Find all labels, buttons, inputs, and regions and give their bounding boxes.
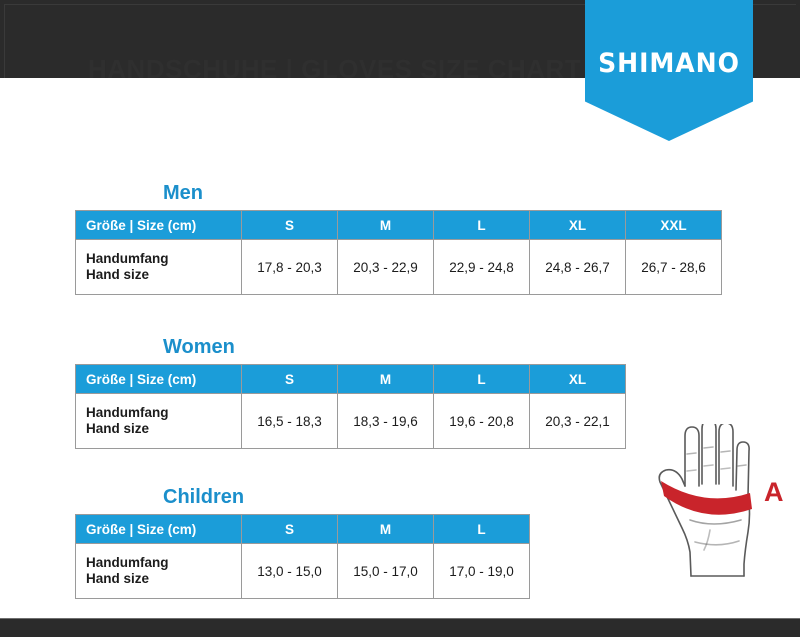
- hand-measurement-diagram: A: [638, 424, 793, 604]
- column-header-xl: XL: [530, 211, 626, 240]
- table-row: Handumfang Hand size 13,0 - 15,0 15,0 - …: [76, 544, 530, 599]
- section-title-children: Children: [163, 486, 530, 508]
- row-label-hand-size: Handumfang Hand size: [76, 544, 242, 599]
- section-men: Men Größe | Size (cm) S M L XL XXL Handu…: [75, 182, 722, 295]
- row-label-hand-size: Handumfang Hand size: [76, 240, 242, 295]
- value-m: 18,3 - 19,6: [338, 394, 434, 449]
- column-header-m: M: [338, 211, 434, 240]
- value-l: 17,0 - 19,0: [434, 544, 530, 599]
- size-chart-page: HANDSCHUHE | GLOVES SIZE CHART SHIMANO M…: [0, 0, 800, 637]
- row-label-en: Hand size: [86, 571, 241, 587]
- column-header-s: S: [242, 515, 338, 544]
- column-header-l: L: [434, 515, 530, 544]
- column-header-l: L: [434, 211, 530, 240]
- row-label-de: Handumfang: [86, 555, 241, 571]
- section-title-men: Men: [163, 182, 722, 204]
- size-table-women: Größe | Size (cm) S M L XL Handumfang Ha…: [75, 364, 626, 449]
- table-row: Handumfang Hand size 16,5 - 18,3 18,3 - …: [76, 394, 626, 449]
- shimano-logo: SHIMANO: [591, 48, 747, 79]
- table-header-row: Größe | Size (cm) S M L XL: [76, 365, 626, 394]
- row-label-de: Handumfang: [86, 405, 241, 421]
- row-label-en: Hand size: [86, 267, 241, 283]
- size-table-men: Größe | Size (cm) S M L XL XXL Handumfan…: [75, 210, 722, 295]
- table-header-row: Größe | Size (cm) S M L XL XXL: [76, 211, 722, 240]
- column-header-label: Größe | Size (cm): [76, 365, 242, 394]
- value-l: 19,6 - 20,8: [434, 394, 530, 449]
- value-xxl: 26,7 - 28,6: [626, 240, 722, 295]
- measurement-label-a: A: [764, 479, 784, 506]
- value-l: 22,9 - 24,8: [434, 240, 530, 295]
- footer-bar: [0, 618, 800, 637]
- size-table-children: Größe | Size (cm) S M L Handumfang Hand …: [75, 514, 530, 599]
- column-header-s: S: [242, 211, 338, 240]
- section-children: Children Größe | Size (cm) S M L Handumf…: [75, 486, 530, 599]
- column-header-l: L: [434, 365, 530, 394]
- value-s: 17,8 - 20,3: [242, 240, 338, 295]
- table-header-row: Größe | Size (cm) S M L: [76, 515, 530, 544]
- value-m: 15,0 - 17,0: [338, 544, 434, 599]
- value-s: 16,5 - 18,3: [242, 394, 338, 449]
- column-header-xxl: XXL: [626, 211, 722, 240]
- page-title: HANDSCHUHE | GLOVES SIZE CHART: [88, 54, 581, 78]
- row-label-hand-size: Handumfang Hand size: [76, 394, 242, 449]
- value-xl: 20,3 - 22,1: [530, 394, 626, 449]
- row-label-en: Hand size: [86, 421, 241, 437]
- column-header-s: S: [242, 365, 338, 394]
- section-title-women: Women: [163, 336, 626, 358]
- hand-circumference-band: [661, 481, 752, 515]
- column-header-label: Größe | Size (cm): [76, 515, 242, 544]
- hand-measurement-icon: [638, 424, 793, 604]
- value-m: 20,3 - 22,9: [338, 240, 434, 295]
- column-header-xl: XL: [530, 365, 626, 394]
- shimano-brand-banner: SHIMANO: [585, 0, 753, 141]
- value-xl: 24,8 - 26,7: [530, 240, 626, 295]
- column-header-m: M: [338, 365, 434, 394]
- table-row: Handumfang Hand size 17,8 - 20,3 20,3 - …: [76, 240, 722, 295]
- column-header-m: M: [338, 515, 434, 544]
- value-s: 13,0 - 15,0: [242, 544, 338, 599]
- row-label-de: Handumfang: [86, 251, 241, 267]
- column-header-label: Größe | Size (cm): [76, 211, 242, 240]
- section-women: Women Größe | Size (cm) S M L XL Handumf…: [75, 336, 626, 449]
